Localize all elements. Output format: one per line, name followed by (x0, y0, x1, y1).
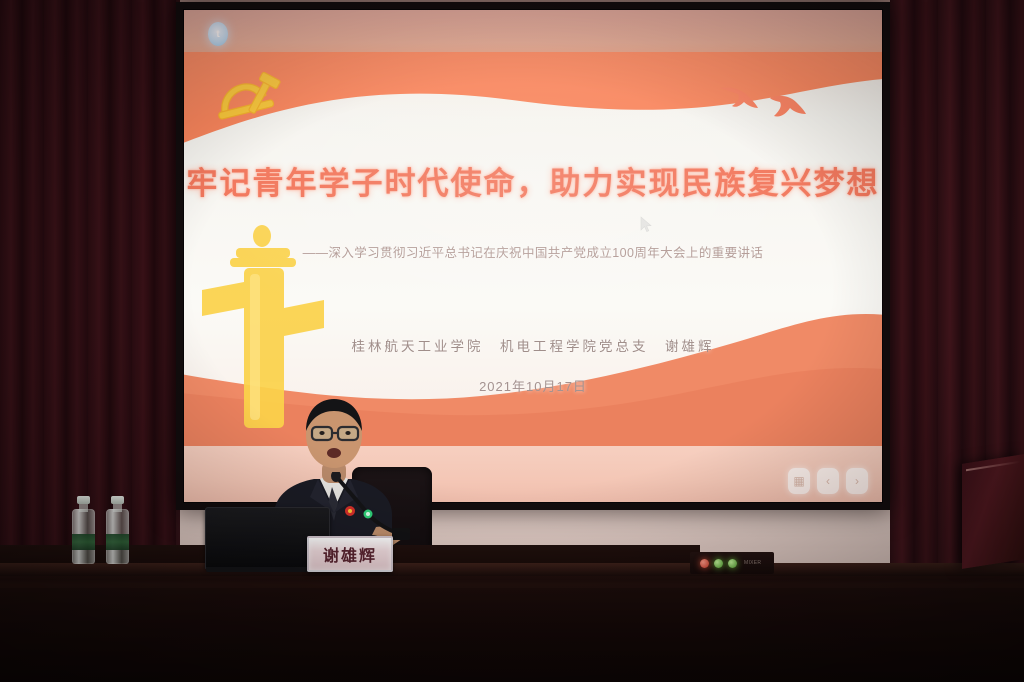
console-label: MIXER (744, 560, 761, 566)
bottle-cap (77, 496, 90, 504)
ppt-previous-slide-button[interactable]: ‹ (817, 468, 839, 494)
slide-title: 牢记青年学子时代使命，助力实现民族复兴梦想 (184, 158, 882, 203)
stage-front-base (0, 588, 1024, 682)
ppt-menu-button[interactable]: ▦ (788, 468, 810, 494)
gooseneck-microphone (330, 472, 410, 542)
bottle-label (106, 534, 129, 550)
ppt-next-slide-button[interactable]: › (846, 468, 868, 494)
desk-top-edge (0, 563, 1024, 576)
audio-console[interactable]: MIXER (690, 552, 774, 574)
power-led-red (700, 559, 709, 568)
ppt-overlay-controls[interactable]: ▦ ‹ › (788, 468, 868, 494)
slide-organization-line: 桂林航天工业学院 机电工程学院党总支 谢雄辉 (184, 335, 882, 355)
bottle-cap (111, 496, 124, 504)
mouse-pointer-icon (640, 216, 652, 233)
status-led-green (714, 559, 723, 568)
water-bottle[interactable] (72, 496, 95, 564)
nameplate: 谢雄辉 (307, 536, 393, 572)
nameplate-text: 谢雄辉 (323, 542, 377, 566)
status-led-green (728, 559, 737, 568)
presentation-photo-scene: t 牢记青年学子时代使命，助力实现民族复兴梦想 ——深入学习贯彻习近平总书记在庆… (0, 0, 1024, 682)
bottle-label (72, 534, 95, 550)
water-bottle[interactable] (106, 496, 129, 564)
side-lectern (962, 454, 1024, 569)
slide-subtitle: ——深入学习贯彻习近平总书记在庆祝中国共产党成立100周年大会上的重要讲话 (184, 242, 882, 261)
